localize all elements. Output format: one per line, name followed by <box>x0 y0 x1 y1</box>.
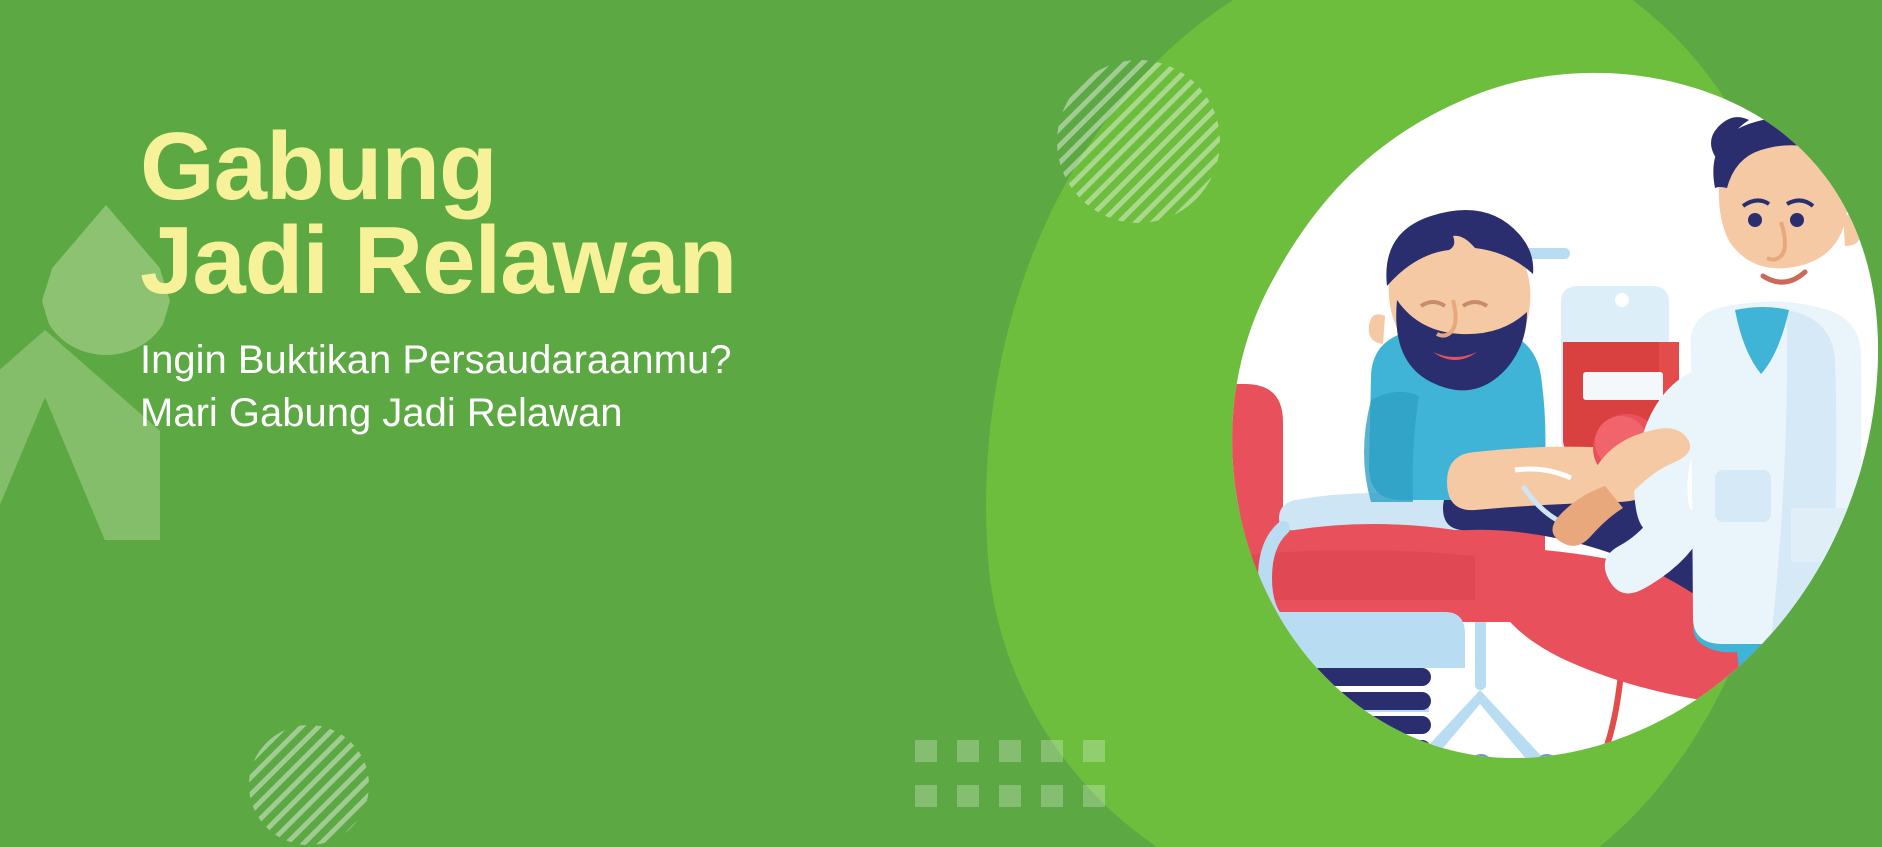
subtitle-line-1: Ingin Buktikan Persaudaraanmu? <box>140 334 1040 387</box>
dot <box>915 740 937 762</box>
promo-banner: Gabung Jadi Relawan Ingin Buktikan Persa… <box>0 0 1882 847</box>
dot <box>957 785 979 807</box>
subtitle-line-2: Mari Gabung Jadi Relawan <box>140 387 1040 440</box>
headline-line-2: Jadi Relawan <box>140 214 1040 308</box>
headline-line-1: Gabung <box>140 120 1040 214</box>
dot <box>1041 740 1063 762</box>
dot-grid-decoration <box>915 740 1125 830</box>
chevron-icon <box>0 330 160 540</box>
dot <box>957 740 979 762</box>
dot <box>915 785 937 807</box>
page-title: Gabung Jadi Relawan <box>140 120 1040 308</box>
dot <box>1083 740 1105 762</box>
banner-copy: Gabung Jadi Relawan Ingin Buktikan Persa… <box>140 120 1040 440</box>
dot <box>1041 785 1063 807</box>
striped-circle-decoration-bottom-left <box>249 725 369 845</box>
dot <box>1083 785 1105 807</box>
blood-donation-illustration <box>1175 0 1882 847</box>
banner-subtitle: Ingin Buktikan Persaudaraanmu? Mari Gabu… <box>140 334 1040 440</box>
dot <box>999 785 1021 807</box>
dot <box>999 740 1021 762</box>
